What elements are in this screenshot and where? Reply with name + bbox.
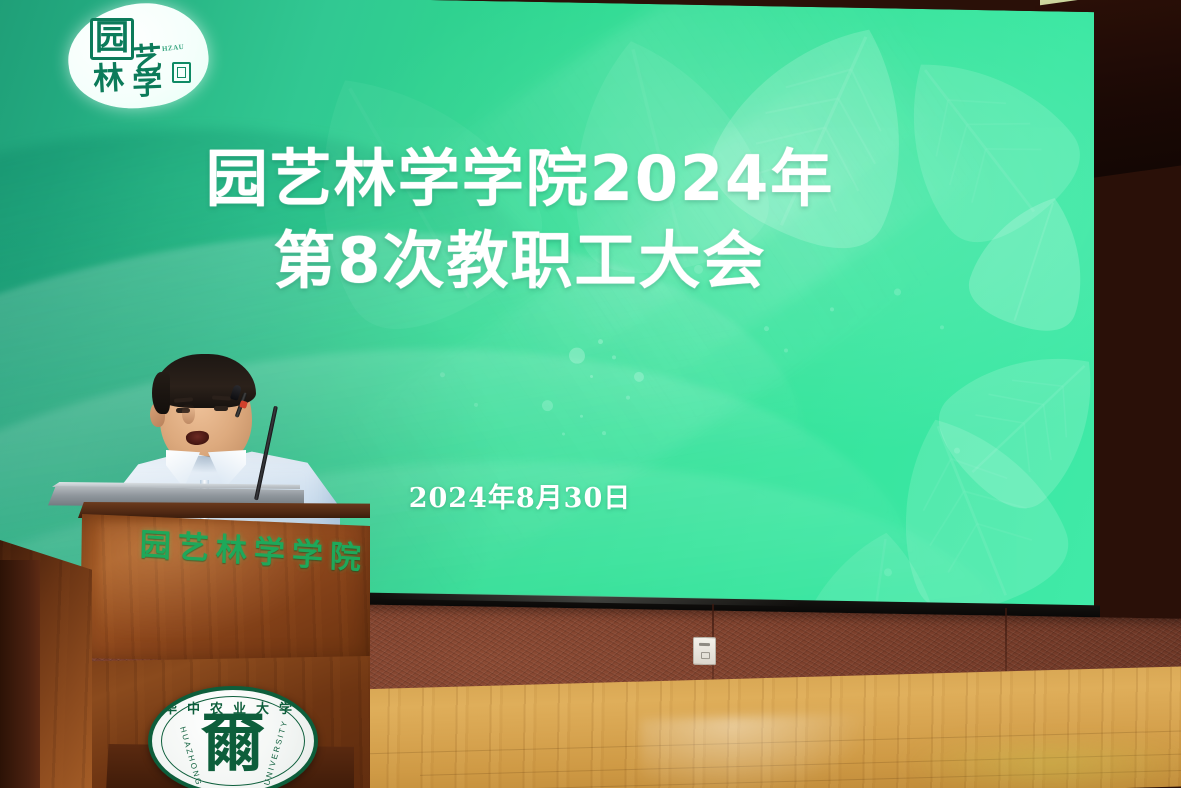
logo-char-xue: 学	[131, 58, 163, 103]
podium-side-shadow	[0, 560, 40, 788]
seal-center-glyph: 爾	[201, 718, 265, 769]
logo-calligraphy: 园 艺 林 学 HZAU	[68, 4, 208, 108]
logo-char-lin: 林	[92, 52, 125, 99]
floor-reflection	[900, 740, 1181, 788]
logo-seal-mark	[172, 62, 191, 83]
college-logo: 园 艺 林 学 HZAU	[68, 4, 208, 108]
podium-top-edge	[78, 502, 370, 518]
wall-outlet-plate	[693, 637, 716, 665]
auditorium-scene: 园 艺 林 学 HZAU 园艺林学学院2024年 第8次教职工大会 2024年8…	[0, 0, 1181, 788]
slide-title: 园艺林学学院2024年 第8次教职工大会	[0, 138, 1040, 302]
slide-title-line1: 园艺林学学院2024年	[0, 138, 1040, 220]
university-seal: 华中农业大学 爾 HUAZHONG UNIVERSITY	[148, 686, 318, 788]
eye	[214, 406, 228, 411]
slide-title-line2: 第8次教职工大会	[0, 220, 1040, 302]
floor-reflection	[640, 713, 870, 788]
nose	[182, 404, 195, 424]
hair-side	[152, 372, 170, 414]
logo-tiny-text: HZAU	[162, 43, 185, 53]
